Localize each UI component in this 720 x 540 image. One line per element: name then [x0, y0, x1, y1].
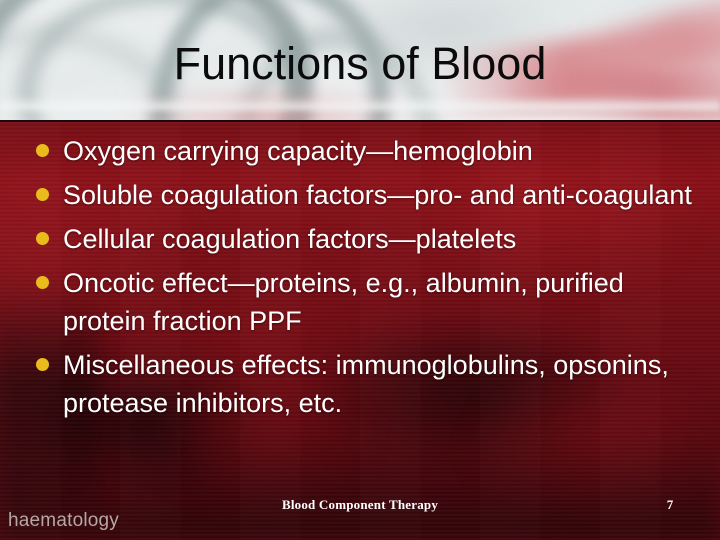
- bullet-dot-icon: [36, 358, 49, 371]
- presentation-slide: Functions of Blood Oxygen carrying capac…: [0, 0, 720, 540]
- slide-title: Functions of Blood: [0, 38, 720, 90]
- bullet-text: Cellular coagulation factors—platelets: [63, 220, 696, 258]
- footer-watermark: haematology: [8, 510, 119, 532]
- bullet-dot-icon: [36, 232, 49, 245]
- bullet-dot-icon: [36, 144, 49, 157]
- list-item: Oncotic effect—proteins, e.g., albumin, …: [36, 264, 696, 340]
- header-white-strip: [0, 96, 720, 110]
- bullet-text: Oxygen carrying capacity—hemoglobin: [63, 132, 696, 170]
- footer-page-number: 7: [640, 497, 700, 513]
- bullet-dot-icon: [36, 276, 49, 289]
- bullet-text: Miscellaneous effects: immunoglobulins, …: [63, 346, 696, 422]
- list-item: Oxygen carrying capacity—hemoglobin: [36, 132, 696, 170]
- list-item: Soluble coagulation factors—pro- and ant…: [36, 176, 696, 214]
- bullet-list: Oxygen carrying capacity—hemoglobin Solu…: [36, 132, 696, 428]
- bullet-text: Soluble coagulation factors—pro- and ant…: [63, 176, 696, 214]
- header-rose-band-d: [120, 96, 420, 122]
- list-item: Cellular coagulation factors—platelets: [36, 220, 696, 258]
- bullet-dot-icon: [36, 188, 49, 201]
- bullet-text: Oncotic effect—proteins, e.g., albumin, …: [63, 264, 696, 340]
- list-item: Miscellaneous effects: immunoglobulins, …: [36, 346, 696, 422]
